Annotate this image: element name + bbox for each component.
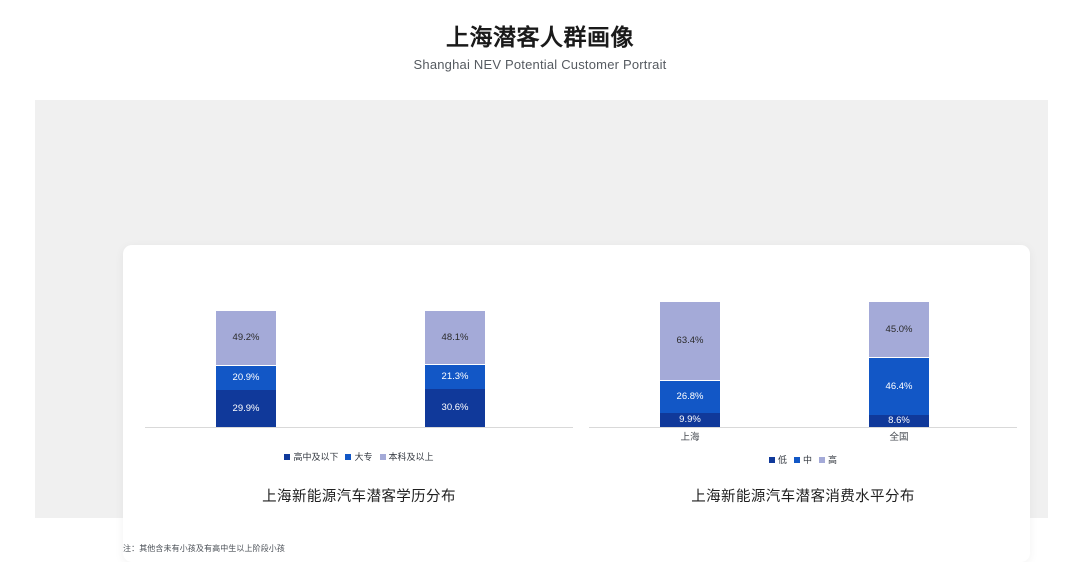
chart-consumption-level-distribution: 63.4% 26.8% 9.9% 45.0% 46.4% 8.6% 上海 全国 … [581, 245, 1025, 562]
legend-item-highschool-below[interactable]: 高中及以下 [284, 450, 338, 463]
legend-item-bachelor-above[interactable]: 本科及以上 [380, 450, 434, 463]
legend-consumption: 低 中 高 [581, 453, 1025, 466]
stacked-bar-national-education[interactable]: 48.1% 21.3% 30.6% [425, 310, 485, 427]
plot-area-consumption: 63.4% 26.8% 9.9% 45.0% 46.4% 8.6% [581, 300, 1025, 428]
legend-swatch-icon [794, 457, 800, 463]
x-axis-label-shanghai: 上海 [660, 431, 720, 445]
legend-swatch-icon [819, 457, 825, 463]
bar-segment-bachelor-above: 49.2% [216, 310, 276, 365]
bar-segment-high: 63.4% [660, 301, 720, 380]
page-header: 上海潜客人群画像 Shanghai NEV Potential Customer… [0, 22, 1080, 75]
legend-item-high[interactable]: 高 [819, 453, 837, 466]
legend-item-college[interactable]: 大专 [345, 450, 372, 463]
chart-caption-education: 上海新能源汽车潜客学历分布 [137, 485, 581, 506]
x-axis-label-national: 全国 [869, 431, 929, 445]
x-axis-line [589, 427, 1017, 428]
bar-segment-highschool-below: 30.6% [425, 389, 485, 427]
legend-label: 大专 [354, 450, 372, 463]
legend-label: 高 [828, 453, 837, 466]
legend-education: 高中及以下 大专 本科及以上 [137, 450, 581, 463]
bar-segment-low: 9.9% [660, 413, 720, 427]
chart-education-distribution: 49.2% 20.9% 29.9% 48.1% 21.3% 30.6% 高中及以… [137, 245, 581, 562]
plot-area-education: 49.2% 20.9% 29.9% 48.1% 21.3% 30.6% [137, 300, 581, 428]
x-axis-line [145, 427, 573, 428]
legend-swatch-icon [345, 454, 351, 460]
legend-swatch-icon [284, 454, 290, 460]
legend-item-medium[interactable]: 中 [794, 453, 812, 466]
bar-segment-college: 21.3% [425, 364, 485, 389]
bar-segment-high: 45.0% [869, 301, 929, 357]
legend-label: 本科及以上 [389, 450, 434, 463]
page-subtitle: Shanghai NEV Potential Customer Portrait [0, 55, 1080, 75]
chart-caption-consumption: 上海新能源汽车潜客消费水平分布 [581, 485, 1025, 506]
bar-segment-college: 20.9% [216, 365, 276, 390]
page-title: 上海潜客人群画像 [0, 22, 1080, 52]
legend-label: 中 [803, 453, 812, 466]
legend-item-low[interactable]: 低 [769, 453, 787, 466]
bar-segment-low: 8.6% [869, 415, 929, 427]
stacked-bar-shanghai-education[interactable]: 49.2% 20.9% 29.9% [216, 310, 276, 427]
bar-segment-medium: 46.4% [869, 357, 929, 415]
bar-segment-highschool-below: 29.9% [216, 390, 276, 427]
x-axis-labels-consumption: 上海 全国 [581, 431, 1025, 447]
bar-segment-bachelor-above: 48.1% [425, 310, 485, 364]
footnote: 注：其他含未有小孩及有高中生以上阶段小孩 [123, 543, 285, 555]
stacked-bar-national-consumption[interactable]: 45.0% 46.4% 8.6% [869, 301, 929, 427]
legend-label: 高中及以下 [293, 450, 338, 463]
legend-swatch-icon [769, 457, 775, 463]
content-panel: 49.2% 20.9% 29.9% 48.1% 21.3% 30.6% 高中及以… [35, 100, 1048, 518]
charts-card: 49.2% 20.9% 29.9% 48.1% 21.3% 30.6% 高中及以… [123, 245, 1030, 562]
stacked-bar-shanghai-consumption[interactable]: 63.4% 26.8% 9.9% [660, 301, 720, 427]
bar-segment-medium: 26.8% [660, 380, 720, 413]
legend-swatch-icon [380, 454, 386, 460]
legend-label: 低 [778, 453, 787, 466]
